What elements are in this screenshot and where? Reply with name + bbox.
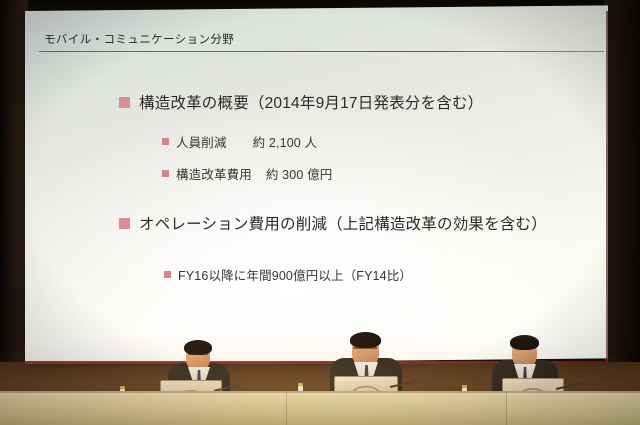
presentation-photo: モバイル・コミュニケーション分野 構造改革の概要（2014年9月17日発表分を含… <box>0 0 640 425</box>
sub-bullet-text: FY16以降に年間900億円以上（FY14比） <box>178 265 412 284</box>
screen-right-edge <box>606 11 608 364</box>
bullet-square-icon <box>119 218 130 229</box>
sub-bullet-amount: 約 2,100 人 <box>253 132 318 151</box>
glasses-icon <box>188 353 208 355</box>
bottle-cap <box>120 386 125 389</box>
panel-table <box>0 391 640 425</box>
bottle-cap <box>462 385 467 388</box>
slide-body: 構造改革の概要（2014年9月17日発表分を含む） 人員削減 約 2,100 人… <box>25 11 608 364</box>
bottle-cap <box>298 383 303 386</box>
sub-bullet-square-icon <box>162 138 169 145</box>
auditorium-wall-right <box>604 0 640 366</box>
sub-bullet-label: 構造改革費用 <box>176 164 252 183</box>
bullet-level2-headcount: 人員削減 約 2,100 人 <box>162 132 317 151</box>
sub-bullet-label: 人員削減 <box>176 132 227 151</box>
bullet-text: オペレーション費用の削減（上記構造改革の効果を含む） <box>139 212 547 234</box>
sub-bullet-amount: 約 300 億円 <box>266 164 333 183</box>
sub-bullet-square-icon <box>164 271 171 278</box>
glasses-icon <box>353 347 377 349</box>
bullet-level2-fy16-target: FY16以降に年間900億円以上（FY14比） <box>164 265 412 284</box>
speaker-panel <box>0 330 640 425</box>
bullet-square-icon <box>119 97 130 108</box>
bullet-text: 構造改革の概要（2014年9月17日発表分を含む） <box>139 91 483 113</box>
auditorium-wall-left <box>0 0 28 366</box>
bullet-level2-reform-cost: 構造改革費用 約 300 億円 <box>162 164 332 183</box>
projection-screen: モバイル・コミュニケーション分野 構造改革の概要（2014年9月17日発表分を含… <box>25 5 608 364</box>
sub-bullet-square-icon <box>162 170 169 177</box>
bullet-level1-structural-reform: 構造改革の概要（2014年9月17日発表分を含む） <box>119 91 483 113</box>
bullet-level1-opex-reduction: オペレーション費用の削減（上記構造改革の効果を含む） <box>119 212 547 234</box>
